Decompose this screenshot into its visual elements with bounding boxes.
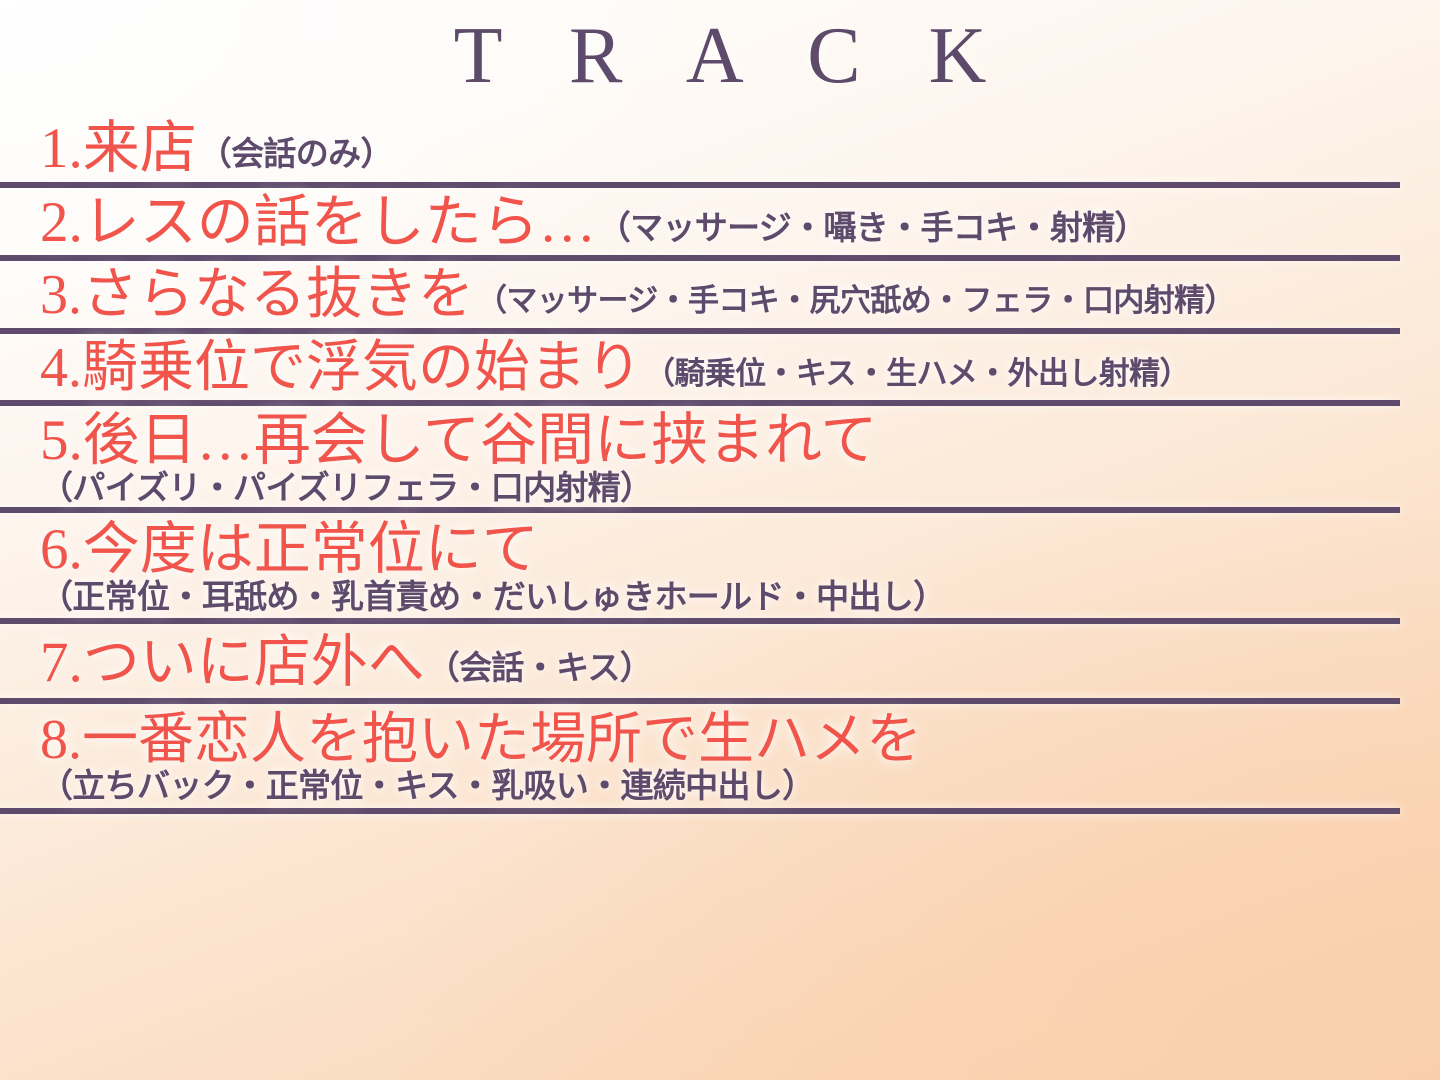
- track-number: 3.: [40, 264, 82, 326]
- track-item: 6.今度は正常位にて （正常位・耳舐め・乳首責め・だいしゅきホールド・中出し）: [0, 513, 1440, 624]
- track-number: 8.: [40, 709, 82, 771]
- track-heading: 8.一番恋人を抱いた場所で生ハメを: [40, 709, 922, 771]
- track-list: 1.来店（会話のみ） 2.レスの話をしたら…（マッサージ・囁き・手コキ・射精） …: [0, 118, 1440, 814]
- track-tags: （騎乗位・キス・生ハメ・外出し射精）: [644, 356, 1190, 391]
- track-heading: 4.騎乗位で浮気の始まり: [40, 337, 642, 399]
- track-number: 5.: [40, 409, 83, 472]
- track-heading-line: 2.レスの話をしたら…（マッサージ・囁き・手コキ・射精）: [40, 192, 1400, 254]
- track-tags: （立ちバック・正常位・キス・乳吸い・連続中出し）: [40, 766, 1400, 806]
- track-item: 4.騎乗位で浮気の始まり（騎乗位・キス・生ハメ・外出し射精）: [0, 334, 1440, 406]
- track-tags: （マッサージ・手コキ・尻穴舐め・フェラ・口内射精）: [476, 283, 1235, 318]
- track-tags: （会話のみ）: [199, 135, 393, 172]
- track-heading: 7.ついに店外へ: [40, 631, 425, 694]
- track-item: 5.後日…再会して谷間に挟まれて （パイズリ・パイズリフェラ・口内射精）: [0, 406, 1440, 513]
- track-item: 1.来店（会話のみ）: [0, 118, 1440, 188]
- track-heading: 5.後日…再会して谷間に挟まれて: [40, 409, 877, 472]
- track-heading-line: 3.さらなる抜きを（マッサージ・手コキ・尻穴舐め・フェラ・口内射精）: [40, 265, 1400, 325]
- track-title: さらなる抜きを: [82, 264, 474, 326]
- track-heading-line: 7.ついに店外へ（会話・キス）: [40, 632, 1400, 694]
- track-number: 1.: [40, 117, 83, 180]
- track-title: 一番恋人を抱いた場所で生ハメを: [82, 709, 922, 771]
- track-heading: 1.来店: [40, 117, 197, 180]
- track-tags: （会話・キス）: [427, 649, 652, 686]
- track-number: 7.: [40, 631, 83, 694]
- track-title: 後日…再会して谷間に挟まれて: [83, 409, 878, 472]
- track-heading: 2.レスの話をしたら…: [40, 191, 596, 254]
- track-number: 2.: [40, 191, 83, 254]
- track-item-body: 5.後日…再会して谷間に挟まれて （パイズリ・パイズリフェラ・口内射精）: [0, 406, 1440, 507]
- track-heading: 6.今度は正常位にて: [40, 518, 539, 581]
- track-item: 8.一番恋人を抱いた場所で生ハメを （立ちバック・正常位・キス・乳吸い・連続中出…: [0, 704, 1440, 814]
- track-title: レスの話をしたら…: [83, 191, 596, 254]
- track-item-body: 7.ついに店外へ（会話・キス）: [0, 624, 1440, 698]
- track-number: 4.: [40, 337, 82, 399]
- track-tags: （マッサージ・囁き・手コキ・射精）: [598, 209, 1147, 246]
- track-tags: （正常位・耳舐め・乳首責め・だいしゅきホールド・中出し）: [40, 577, 1400, 617]
- track-title: ついに店外へ: [83, 631, 425, 694]
- track-item-body: 4.騎乗位で浮気の始まり（騎乗位・キス・生ハメ・外出し射精）: [0, 334, 1440, 400]
- track-title: 今度は正常位にて: [83, 518, 539, 581]
- track-heading-line: 1.来店（会話のみ）: [40, 118, 1400, 180]
- track-heading-line: 6.今度は正常位にて: [40, 519, 1400, 581]
- track-heading-line: 5.後日…再会して谷間に挟まれて: [40, 410, 1400, 472]
- track-heading-line: 8.一番恋人を抱いた場所で生ハメを: [40, 710, 1400, 770]
- track-item-body: 6.今度は正常位にて （正常位・耳舐め・乳首責め・だいしゅきホールド・中出し）: [0, 513, 1440, 618]
- track-item-body: 2.レスの話をしたら…（マッサージ・囁き・手コキ・射精）: [0, 188, 1440, 256]
- track-title: 来店: [83, 117, 197, 180]
- track-divider: [0, 808, 1400, 814]
- track-heading-line: 4.騎乗位で浮気の始まり（騎乗位・キス・生ハメ・外出し射精）: [40, 338, 1400, 398]
- track-number: 6.: [40, 518, 83, 581]
- track-item-body: 3.さらなる抜きを（マッサージ・手コキ・尻穴舐め・フェラ・口内射精）: [0, 261, 1440, 327]
- track-item-body: 8.一番恋人を抱いた場所で生ハメを （立ちバック・正常位・キス・乳吸い・連続中出…: [0, 704, 1440, 808]
- track-item: 3.さらなる抜きを（マッサージ・手コキ・尻穴舐め・フェラ・口内射精）: [0, 261, 1440, 333]
- track-title: 騎乗位で浮気の始まり: [82, 337, 642, 399]
- track-heading: 3.さらなる抜きを: [40, 264, 474, 326]
- track-page: T R A C K 1.来店（会話のみ） 2.レスの話をしたら…（マッサージ・囁…: [0, 0, 1440, 1080]
- track-item: 2.レスの話をしたら…（マッサージ・囁き・手コキ・射精）: [0, 188, 1440, 262]
- track-tags: （パイズリ・パイズリフェラ・口内射精）: [40, 468, 1400, 508]
- track-item: 7.ついに店外へ（会話・キス）: [0, 624, 1440, 704]
- page-title: T R A C K: [0, 16, 1440, 96]
- track-item-body: 1.来店（会話のみ）: [0, 118, 1440, 182]
